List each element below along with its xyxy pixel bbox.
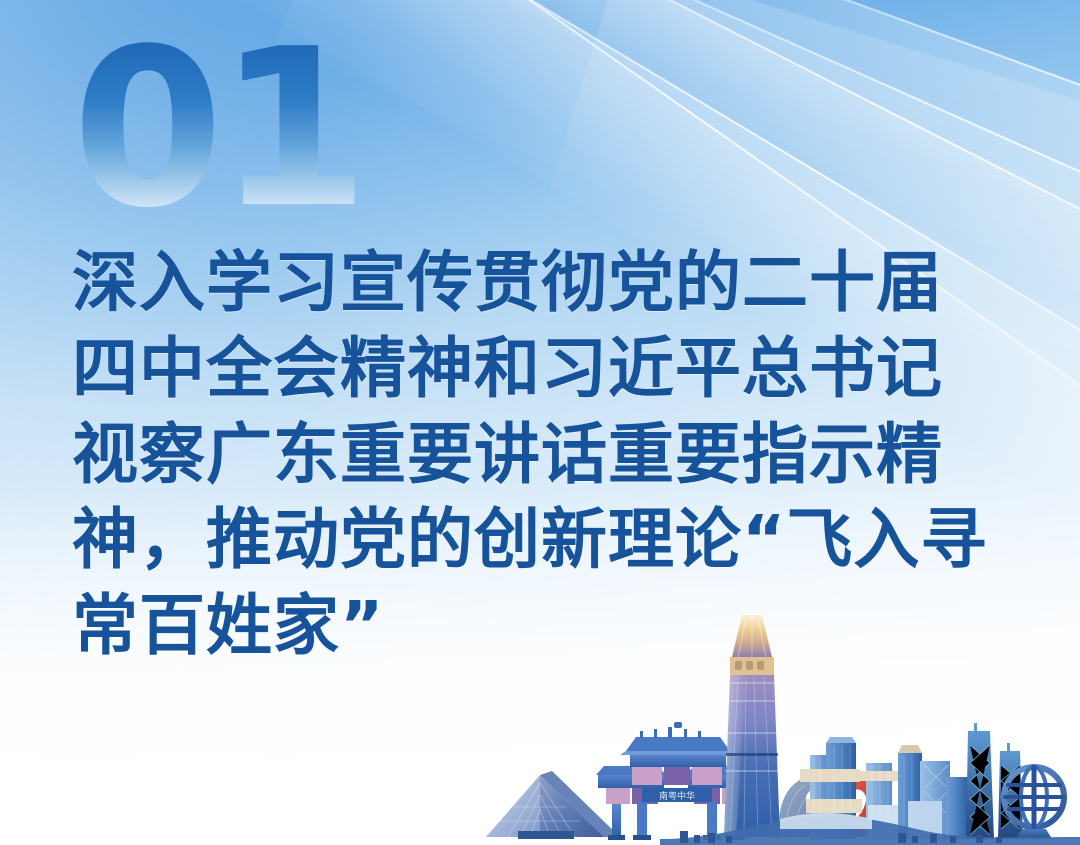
poster-root: 01 深入学习宣传贯彻党的二十届 四中全会精神和习近平总书记 视察广东重要讲话重…	[0, 0, 1080, 845]
section-number: 01	[72, 26, 363, 233]
ping-an-finance-tower-icon	[724, 615, 780, 837]
headline-line-2: 四中全会精神和习近平总书记	[72, 326, 1022, 412]
headline-line-1: 深入学习宣传贯彻党的二十届	[72, 240, 1022, 326]
city-skyline-illustration: 南粤中华	[480, 605, 1080, 845]
headline-line-4: 神，推动党的创新理论“飞入寻	[72, 497, 1022, 583]
gate-inscription: 南粤中华	[659, 790, 695, 802]
headline-line-3: 视察广东重要讲话重要指示精	[72, 412, 1022, 498]
